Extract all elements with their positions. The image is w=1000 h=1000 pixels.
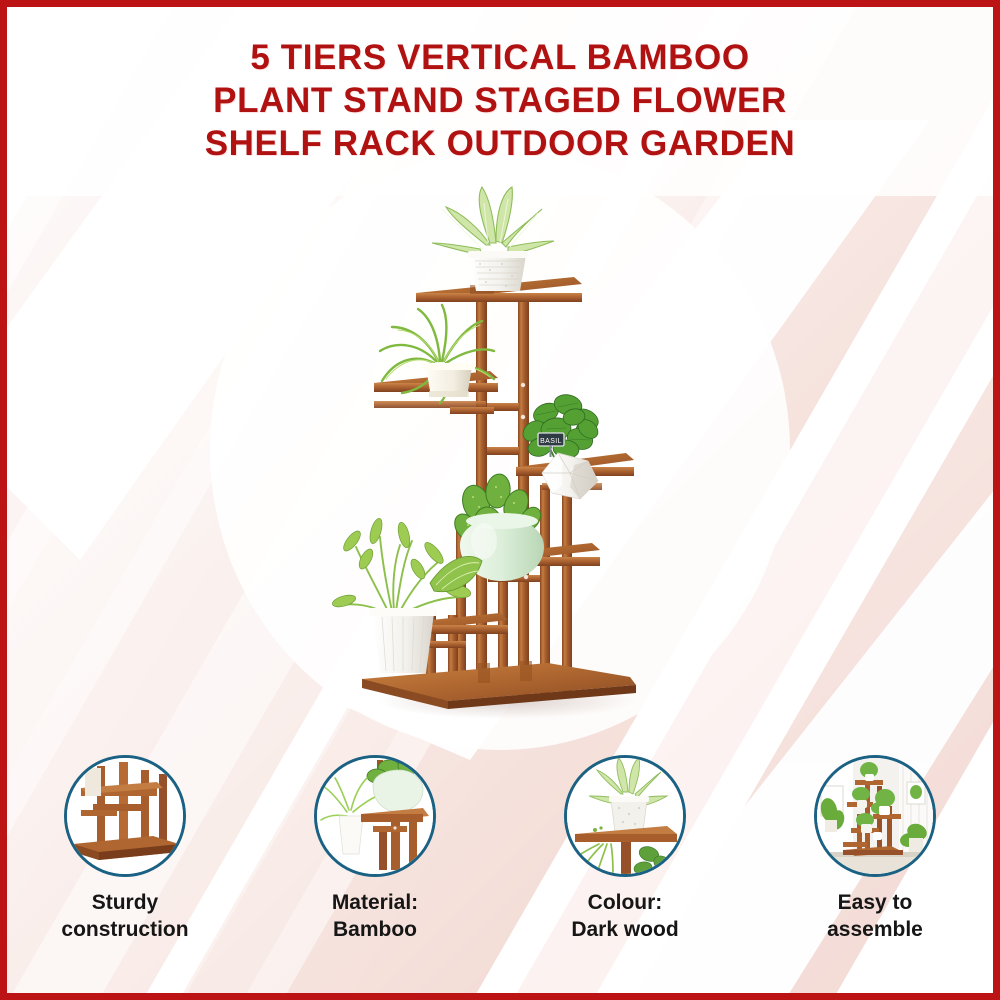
hero-product-image: BASIL	[330, 185, 670, 730]
feature-item-easy-to-assemble: Easy to assemble	[750, 755, 1000, 970]
title-line-3: SHELF RACK OUTDOOR GARDEN	[90, 122, 910, 165]
feature-thumb-sturdy-construction	[64, 755, 186, 877]
feature-label-colour-dark-wood: Colour: Dark wood	[571, 889, 678, 943]
feature-thumb-easy-to-assemble	[814, 755, 936, 877]
feature-thumb-material-bamboo	[314, 755, 436, 877]
feature-label-sturdy-construction: Sturdy construction	[61, 889, 188, 943]
feature-item-sturdy-construction: Sturdy construction	[0, 755, 250, 970]
feature-label-easy-to-assemble: Easy to assemble	[827, 889, 923, 943]
feature-thumb-colour-dark-wood	[564, 755, 686, 877]
title-line-1: 5 TIERS VERTICAL BAMBOO	[90, 36, 910, 79]
title-line-2: PLANT STAND STAGED FLOWER	[90, 79, 910, 122]
feature-label-material-bamboo: Material: Bamboo	[332, 889, 418, 943]
feature-item-colour-dark-wood: Colour: Dark wood	[500, 755, 750, 970]
feature-item-material-bamboo: Material: Bamboo	[250, 755, 500, 970]
product-banner: 5 TIERS VERTICAL BAMBOO PLANT STAND STAG…	[0, 0, 1000, 1000]
svg-text:BASIL: BASIL	[540, 438, 562, 445]
page-title: 5 TIERS VERTICAL BAMBOO PLANT STAND STAG…	[0, 36, 1000, 165]
feature-list: Sturdy construction	[0, 755, 1000, 970]
